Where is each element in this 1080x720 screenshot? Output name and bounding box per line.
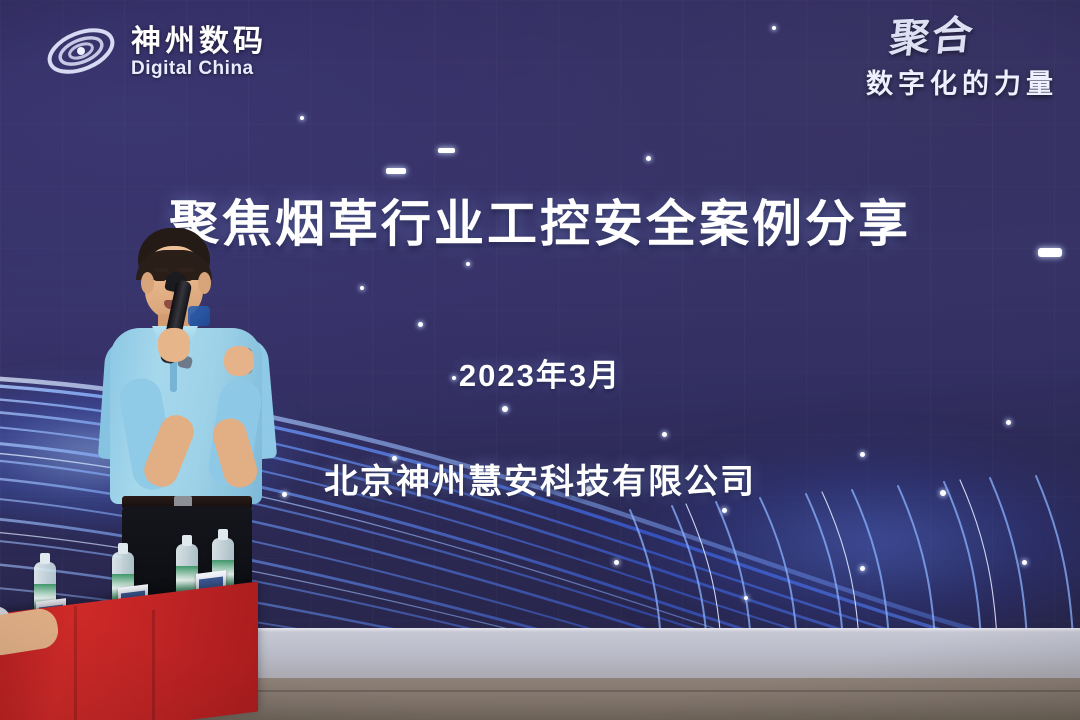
brand-logo: 神州数码 Digital China — [44, 22, 267, 85]
particle — [418, 322, 423, 327]
particle — [860, 566, 865, 571]
particle — [1022, 560, 1027, 565]
particle — [744, 596, 748, 600]
event-logo: 聚合 数字化的力量 — [866, 18, 1058, 101]
tablecloth-fold — [74, 606, 77, 720]
stage-floor-seam — [250, 690, 1080, 692]
particle — [360, 286, 364, 290]
tablecloth-fold — [152, 610, 155, 720]
particle — [386, 168, 406, 174]
event-logo-slogan: 数字化的力量 — [866, 62, 1058, 101]
presenter-chest-logo-icon — [188, 306, 210, 326]
particle — [722, 508, 727, 513]
swirl-logo-icon — [44, 22, 118, 85]
particle — [502, 406, 508, 412]
particle — [614, 560, 619, 565]
presenter-brow-right — [179, 268, 194, 272]
particle — [662, 432, 667, 437]
presenter-hand-left — [158, 328, 190, 362]
presenter-ear-left — [141, 272, 154, 294]
particle — [646, 156, 651, 161]
presenter-ear-right — [198, 272, 211, 294]
brand-name-en: Digital China — [131, 58, 267, 81]
particle — [300, 116, 304, 120]
brand-logo-text: 神州数码 Digital China — [131, 26, 267, 80]
conference-photo: 神州数码 Digital China 聚合 数字化的力量 聚焦烟草行业工控安全案… — [0, 0, 1080, 720]
presenter-hand-right — [224, 346, 254, 376]
particle — [466, 262, 470, 266]
particle — [1006, 420, 1011, 425]
brand-name-cn: 神州数码 — [131, 26, 267, 58]
presenter-eye-left — [154, 276, 166, 281]
presenter-brow-left — [153, 268, 168, 272]
event-logo-brush-text: 聚合 — [864, 15, 977, 61]
particle — [438, 148, 455, 153]
particle — [772, 26, 776, 30]
